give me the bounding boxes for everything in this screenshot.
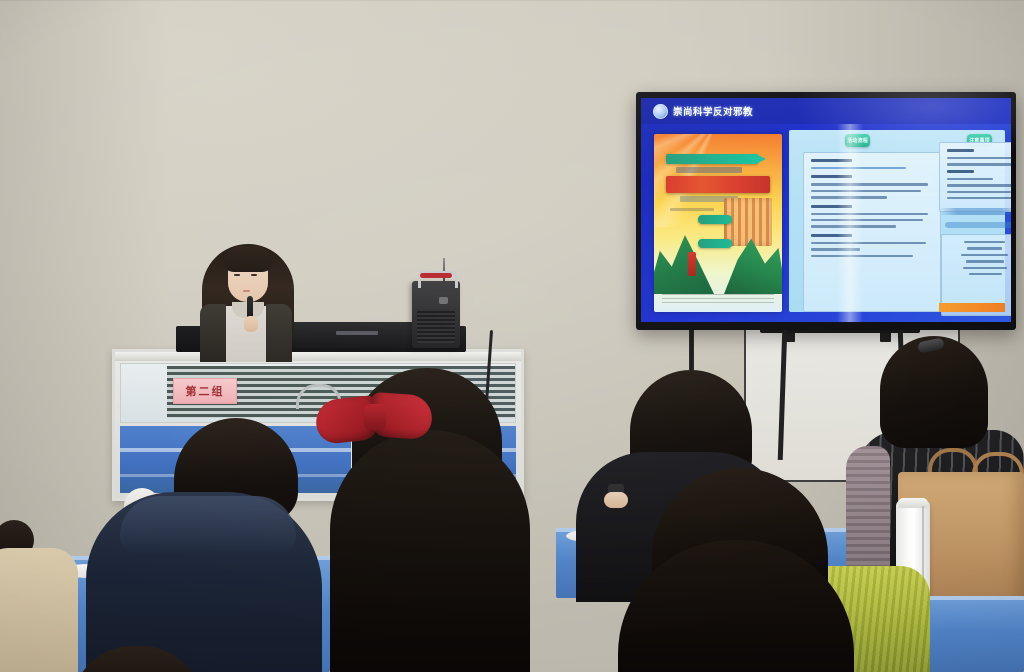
hoodie-hood-fold <box>120 496 296 554</box>
group-number-sign: 第二组 <box>173 378 237 404</box>
poster-mountain-left <box>654 222 714 294</box>
card-line <box>811 167 906 169</box>
red-satin-hair-bow <box>316 392 436 444</box>
dark-jacket-person-hand <box>604 492 628 508</box>
classroom-photo-scene: 崇尚科学反对邪教 <box>0 0 1024 672</box>
beige-coat-person-torso <box>0 548 78 672</box>
slide-text-card-notes <box>939 142 1011 212</box>
bow-knot <box>364 404 386 430</box>
poster-subtitle-bar <box>676 167 742 173</box>
presenter-hand <box>244 316 258 332</box>
slide-header-title: 崇尚科学反对邪教 <box>673 104 753 118</box>
portable-pa-speaker[interactable] <box>412 281 460 348</box>
presenter-woman <box>196 240 300 360</box>
card-line <box>811 255 913 257</box>
card-line <box>947 163 1011 165</box>
card-section-heading <box>811 159 852 162</box>
slide-header: 崇尚科学反对邪教 <box>641 98 1011 124</box>
speaker-grille <box>417 309 455 343</box>
card-line <box>964 241 1005 243</box>
poster-banner-text <box>666 154 758 164</box>
card-line <box>811 196 887 198</box>
card-section-heading <box>811 175 852 178</box>
presenter-fringe <box>224 246 272 272</box>
card-line <box>966 260 1004 262</box>
card-line <box>967 247 1002 249</box>
slide-accent-strip <box>939 303 1005 312</box>
card-section-heading <box>811 205 852 208</box>
striped-vest-person-head <box>880 336 988 448</box>
card-line <box>811 183 928 185</box>
poster-footer-text <box>662 294 774 306</box>
card-section-heading <box>947 170 974 173</box>
presenter-eye-left <box>234 274 240 276</box>
badge-activity-flow-label: 活动流程 <box>847 137 868 144</box>
poster-red-scroll <box>688 252 696 276</box>
poster-microtext-bar <box>670 208 714 211</box>
card-line <box>961 254 1008 256</box>
monitor-brand-strip <box>336 331 378 335</box>
card-line <box>811 225 896 227</box>
presenter-vest-right <box>266 304 292 362</box>
card-section-heading <box>811 234 852 237</box>
presenter-mouth <box>243 290 250 292</box>
emblem-icon <box>653 104 668 119</box>
card-line <box>811 242 926 244</box>
card-line <box>969 273 1002 275</box>
striped-vest-person-sleeve <box>846 446 890 576</box>
card-line <box>947 157 1011 159</box>
card-line <box>947 191 1011 193</box>
card-line <box>963 267 1007 269</box>
speaker-handle-grip <box>420 273 452 278</box>
slide-script-heading <box>945 222 1011 228</box>
slide-text-card-main <box>803 152 941 312</box>
presenter-vest-left <box>200 304 226 362</box>
campaign-poster-image <box>654 134 782 312</box>
presentation-slide: 崇尚科学反对邪教 <box>641 98 1011 322</box>
card-line <box>811 219 923 221</box>
card-line <box>811 248 860 250</box>
tv-bezel: 崇尚科学反对邪教 <box>641 98 1011 322</box>
wall-seam <box>0 0 1024 1</box>
group-number-sign-text: 第二组 <box>186 383 225 399</box>
speaker-knob[interactable] <box>439 297 448 304</box>
monitor-display <box>288 322 416 348</box>
slide-divider-heading <box>939 208 1011 215</box>
slide-body: 活动流程 注意事项 <box>641 124 1011 322</box>
badge-activity-flow: 活动流程 <box>845 134 870 147</box>
presenter-eye-right <box>251 274 257 276</box>
slide-content-area: 活动流程 注意事项 <box>789 130 1005 312</box>
poster-pill-label-1 <box>698 215 732 224</box>
red-bow-person-hair <box>330 430 530 672</box>
card-section-heading <box>947 149 974 152</box>
card-line <box>811 213 928 215</box>
card-line <box>811 190 921 192</box>
poster-pill-label-2 <box>698 239 732 248</box>
podium-top-rail <box>115 352 521 361</box>
poster-headline-bar <box>666 176 770 193</box>
wall-mounted-tv[interactable]: 崇尚科学反对邪教 <box>636 92 1016 330</box>
card-line <box>947 197 1011 199</box>
card-line <box>947 178 993 180</box>
card-line <box>947 184 1011 186</box>
